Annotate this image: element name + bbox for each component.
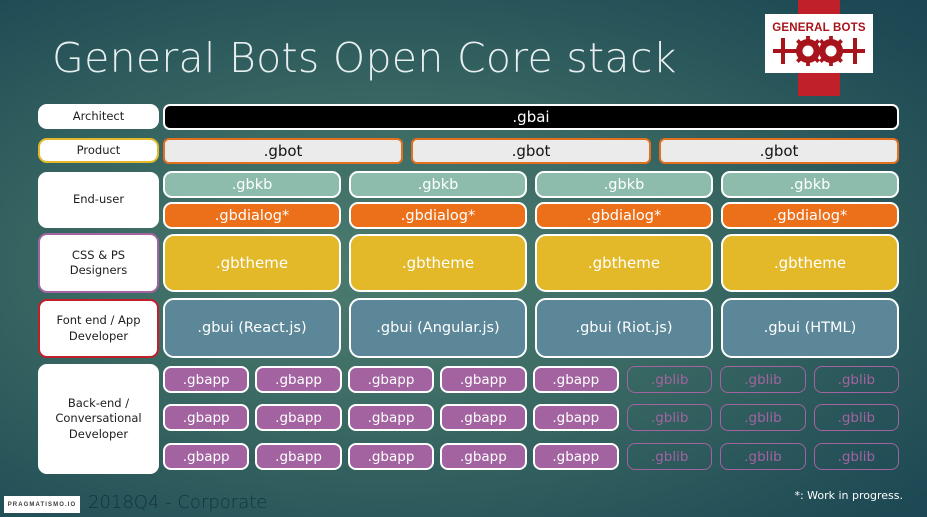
stack-cell-gbui: .gbui (Riot.js) bbox=[535, 298, 713, 358]
pragmatismo-logo: PRAGMATISMO.IO bbox=[4, 496, 80, 513]
stack-cell-gblib: .gblib bbox=[814, 366, 899, 393]
stack-cell-gblib: .gblib bbox=[720, 404, 805, 431]
stack-cell-gblib: .gblib bbox=[814, 404, 899, 431]
stack-cell-gbapp: .gbapp bbox=[440, 366, 526, 393]
stack-cell-gbot: .gbot bbox=[659, 138, 899, 164]
footer-date-label: 2018Q4 - Corporate bbox=[88, 492, 267, 513]
role-label-line: Designers bbox=[70, 263, 128, 278]
stack-cell-gbapp: .gbapp bbox=[348, 366, 434, 393]
stack-cell-gbot: .gbot bbox=[163, 138, 403, 164]
role-label-line: CSS & PS bbox=[72, 248, 125, 263]
role-label-line: End-user bbox=[73, 192, 124, 207]
role-label-line: Developer bbox=[69, 427, 128, 442]
stack-diagram: ArchitectProductEnd-userCSS & PSDesigner… bbox=[0, 0, 927, 517]
stack-cell-gblib: .gblib bbox=[627, 443, 712, 470]
role-label-product: Product bbox=[38, 138, 159, 163]
stack-cell-gbkb: .gbkb bbox=[721, 171, 899, 198]
stack-cell-gbtheme: .gbtheme bbox=[163, 234, 341, 292]
stack-cell-gbdialog: .gbdialog* bbox=[721, 202, 899, 229]
stack-cell-gblib: .gblib bbox=[720, 443, 805, 470]
role-label-line: Font end / App bbox=[56, 313, 140, 328]
stack-cell-gbdialog: .gbdialog* bbox=[535, 202, 713, 229]
stack-cell-gbapp: .gbapp bbox=[163, 366, 249, 393]
stack-cell-gbapp: .gbapp bbox=[440, 404, 526, 431]
stack-cell-gblib: .gblib bbox=[627, 366, 712, 393]
stack-cell-gbapp: .gbapp bbox=[255, 443, 341, 470]
role-label-line: Back-end / bbox=[68, 396, 129, 411]
role-label-line: Conversational bbox=[55, 411, 141, 426]
stack-cell-gbkb: .gbkb bbox=[535, 171, 713, 198]
stack-cell-gbdialog: .gbdialog* bbox=[349, 202, 527, 229]
footer-work-in-progress-note: *: Work in progress. bbox=[794, 489, 903, 502]
stack-cell-gbapp: .gbapp bbox=[533, 404, 619, 431]
stack-cell-gbot: .gbot bbox=[411, 138, 651, 164]
stack-cell-gbapp: .gbapp bbox=[255, 366, 341, 393]
stack-cell-gbapp: .gbapp bbox=[163, 443, 249, 470]
stack-cell-gbui: .gbui (Angular.js) bbox=[349, 298, 527, 358]
slide-canvas: GENERAL BOTS bbox=[0, 0, 927, 517]
stack-cell-gbtheme: .gbtheme bbox=[721, 234, 899, 292]
role-label-font-end-app-developer: Font end / AppDeveloper bbox=[38, 299, 159, 358]
role-label-line: Product bbox=[77, 143, 121, 158]
stack-cell-gbtheme: .gbtheme bbox=[349, 234, 527, 292]
stack-cell-gbapp: .gbapp bbox=[533, 366, 619, 393]
stack-cell-gblib: .gblib bbox=[720, 366, 805, 393]
stack-cell-gbui: .gbui (HTML) bbox=[721, 298, 899, 358]
pragmatismo-logo-text: PRAGMATISMO.IO bbox=[8, 502, 77, 508]
stack-cell-gbdialog: .gbdialog* bbox=[163, 202, 341, 229]
stack-cell-gbapp: .gbapp bbox=[348, 443, 434, 470]
stack-cell-gbapp: .gbapp bbox=[163, 404, 249, 431]
stack-cell-gbkb: .gbkb bbox=[349, 171, 527, 198]
role-label-line: Developer bbox=[69, 329, 128, 344]
stack-cell-gblib: .gblib bbox=[814, 443, 899, 470]
role-label-architect: Architect bbox=[38, 104, 159, 129]
stack-cell-gbtheme: .gbtheme bbox=[535, 234, 713, 292]
role-label-end-user: End-user bbox=[38, 172, 159, 228]
stack-cell-gbkb: .gbkb bbox=[163, 171, 341, 198]
role-label-back-end-conversational-developer: Back-end /ConversationalDeveloper bbox=[38, 364, 159, 474]
stack-cell-gbui: .gbui (React.js) bbox=[163, 298, 341, 358]
stack-cell-gbapp: .gbapp bbox=[255, 404, 341, 431]
stack-cell-gbapp: .gbapp bbox=[348, 404, 434, 431]
stack-cell-gbai: .gbai bbox=[163, 104, 899, 130]
role-label-css-ps-designers: CSS & PSDesigners bbox=[38, 233, 159, 293]
stack-cell-gbapp: .gbapp bbox=[533, 443, 619, 470]
stack-cell-gblib: .gblib bbox=[627, 404, 712, 431]
stack-cell-gbapp: .gbapp bbox=[440, 443, 526, 470]
role-label-line: Architect bbox=[73, 109, 125, 124]
